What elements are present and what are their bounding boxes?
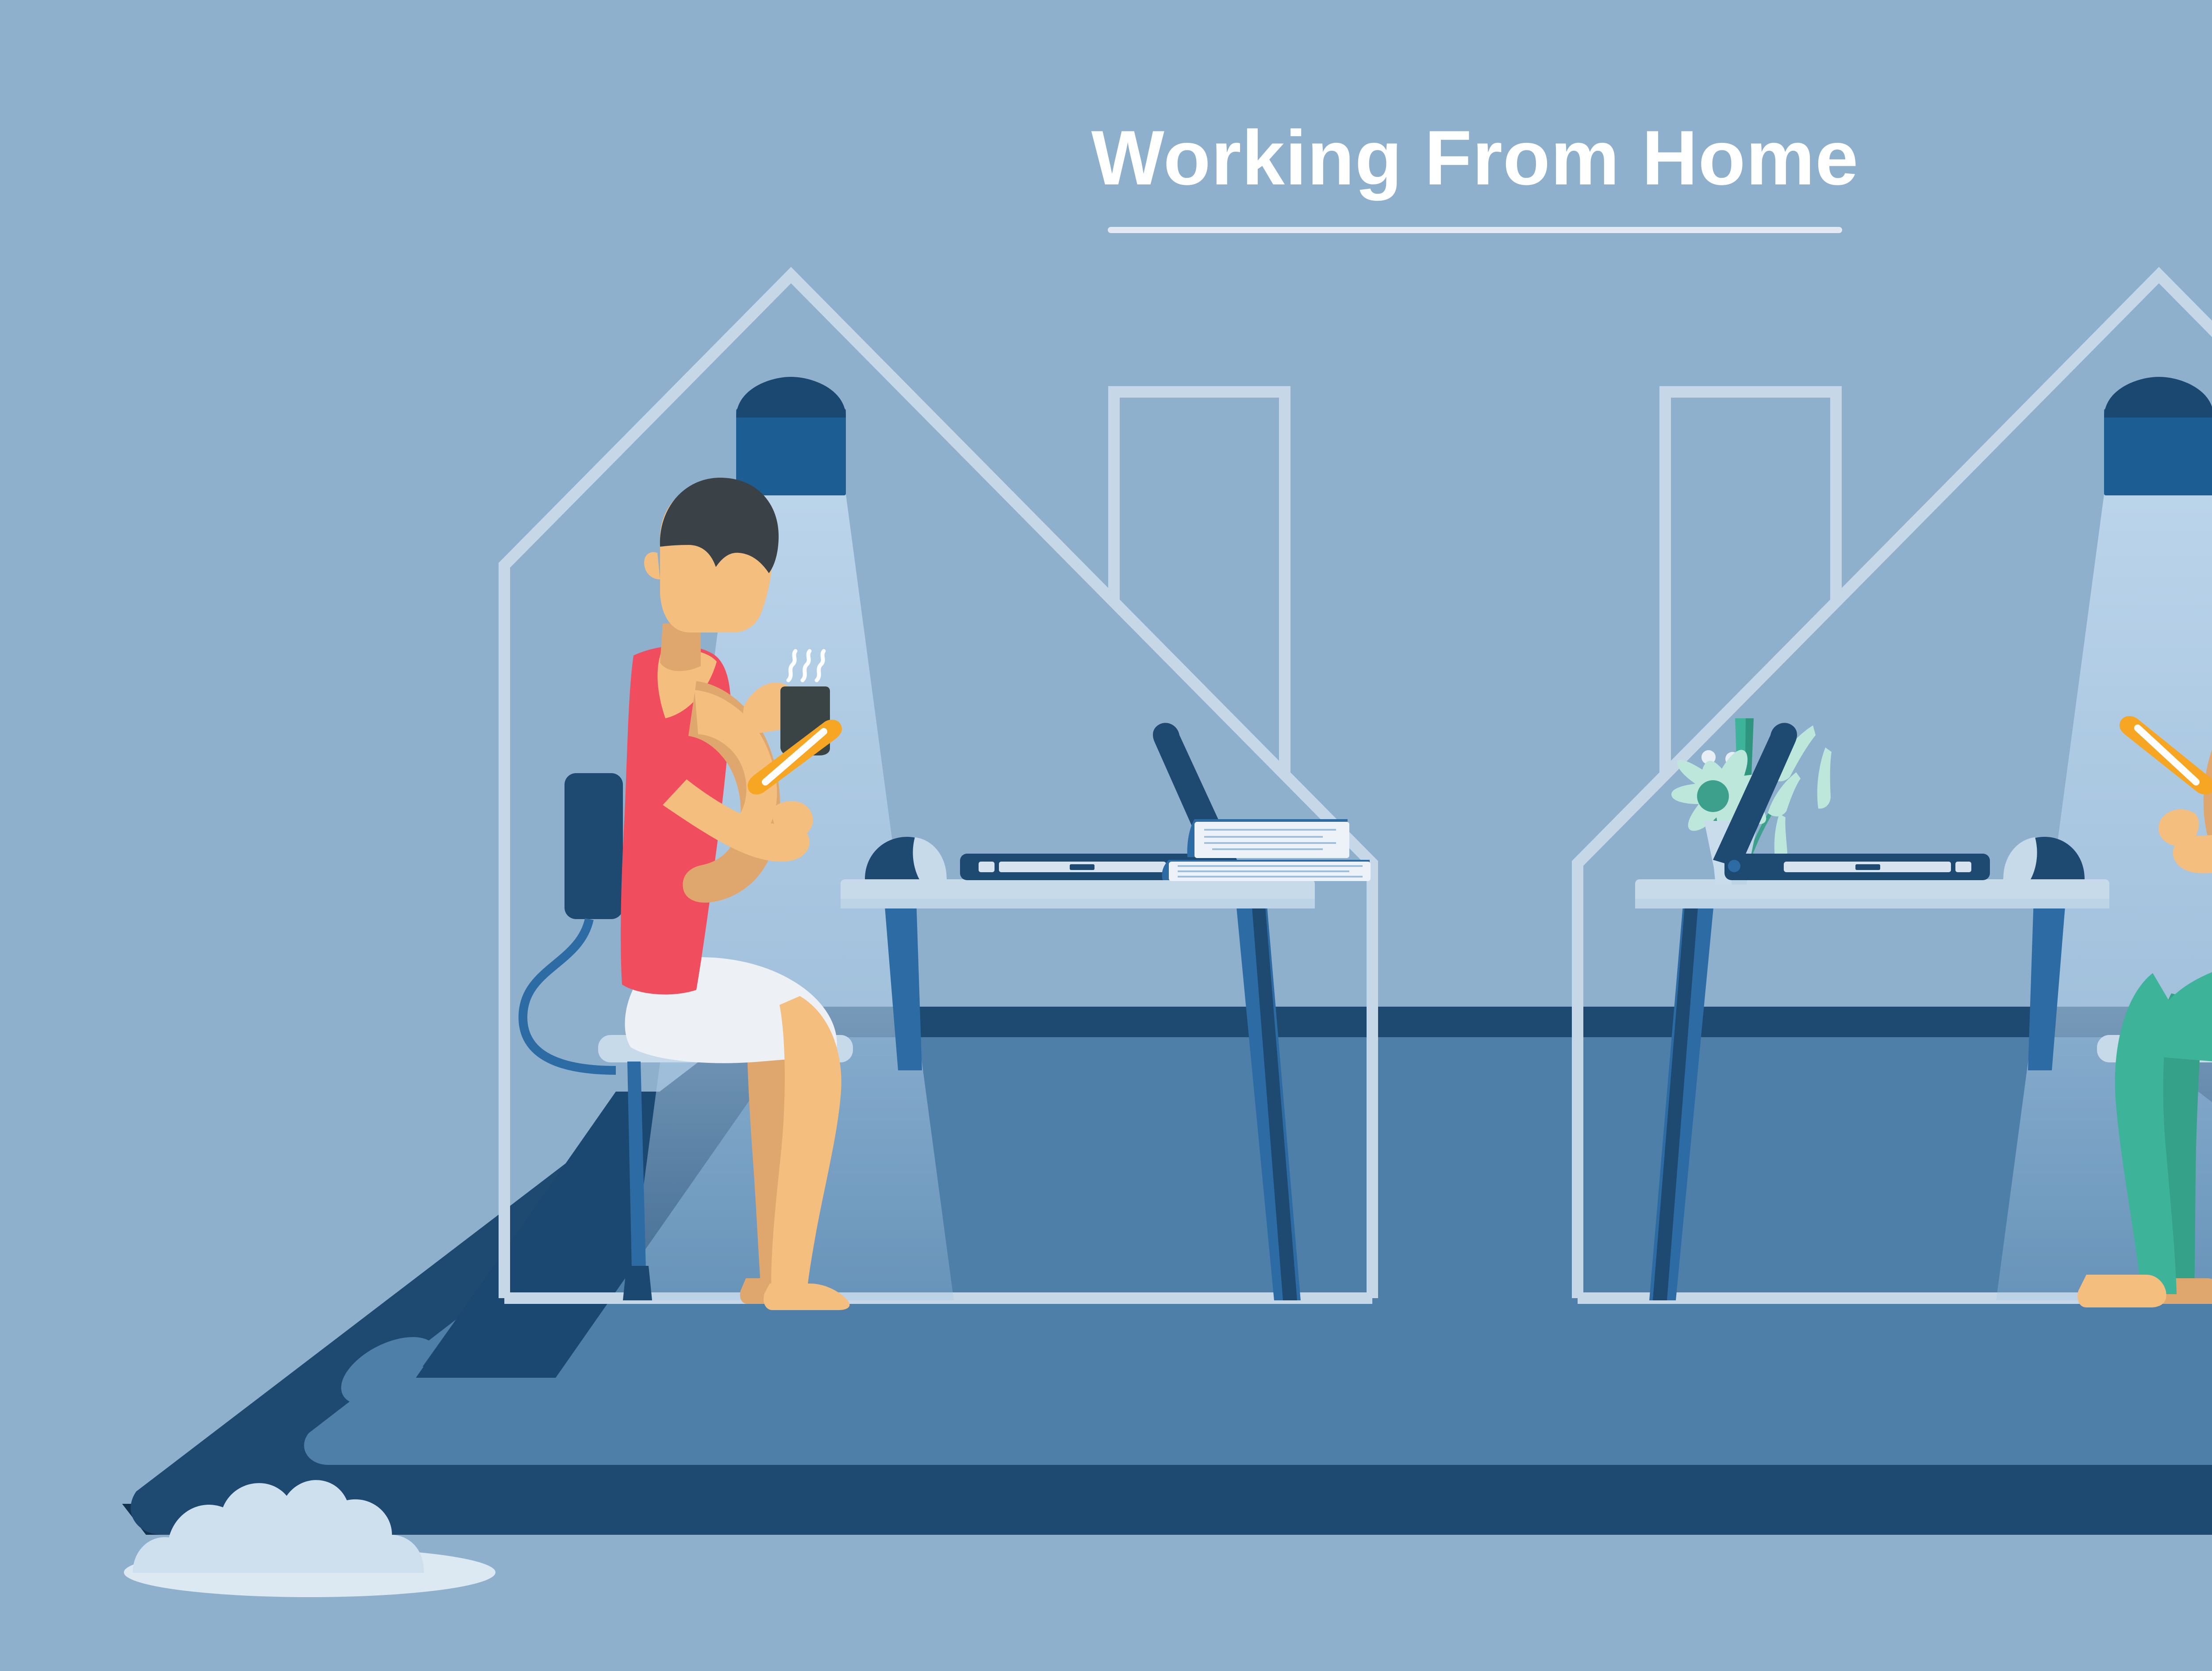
working-from-home-scene (0, 0, 2212, 1671)
right-foot (2078, 1275, 2166, 1307)
illustration-canvas: Working From Home (0, 0, 2212, 1671)
book-stack-left (1162, 819, 1371, 881)
chair-back-left (565, 773, 623, 919)
book-top (1194, 822, 1349, 858)
